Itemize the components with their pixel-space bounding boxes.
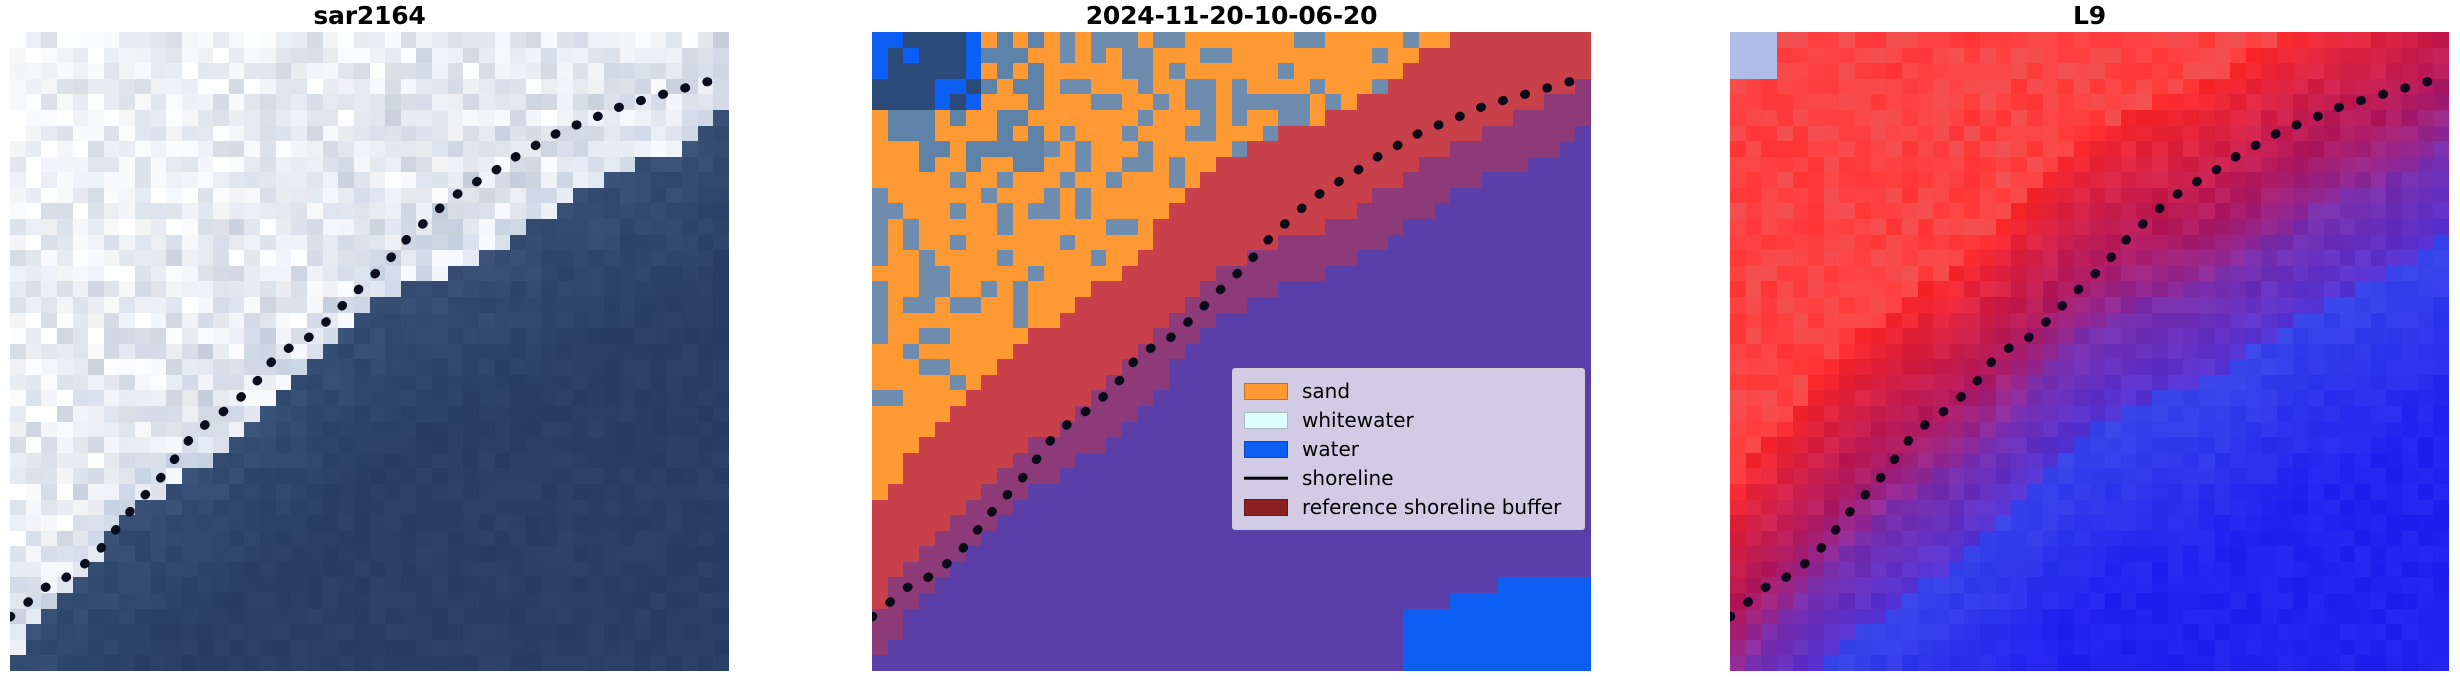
classification-raster <box>872 32 1591 671</box>
panel-title-l9: L9 <box>1730 2 2449 30</box>
legend-item-water[interactable]: water <box>1244 436 1573 462</box>
legend-swatch-water <box>1244 441 1288 458</box>
panel-l9-image[interactable] <box>1730 32 2449 671</box>
legend-label-sand: sand <box>1302 381 1350 401</box>
legend-item-sand[interactable]: sand <box>1244 378 1573 404</box>
panel-title-classification: 2024-11-20-10-06-20 <box>872 2 1591 30</box>
legend-item-whitewater[interactable]: whitewater <box>1244 407 1573 433</box>
legend-item-shoreline[interactable]: shoreline <box>1244 465 1573 491</box>
legend-label-shoreline: shoreline <box>1302 468 1394 488</box>
legend-swatch-shoreline <box>1244 470 1288 487</box>
legend-swatch-sand <box>1244 383 1288 400</box>
legend-item-reference-buffer[interactable]: reference shoreline buffer <box>1244 494 1573 520</box>
sar-raster <box>10 32 729 671</box>
legend-swatch-reference-buffer <box>1244 499 1288 516</box>
legend-label-reference-buffer: reference shoreline buffer <box>1302 497 1561 517</box>
panel-title-sar: sar2164 <box>10 2 729 30</box>
figure-canvas: sar2164 2024-11-20-10-06-20 L9 sand w <box>0 0 2460 687</box>
legend-box[interactable]: sand whitewater water shoreline referenc… <box>1232 368 1585 530</box>
legend-label-whitewater: whitewater <box>1302 410 1414 430</box>
l9-raster <box>1730 32 2449 671</box>
panel-sar-image[interactable] <box>10 32 729 671</box>
panel-classification-image[interactable]: sand whitewater water shoreline referenc… <box>872 32 1591 671</box>
legend-swatch-whitewater <box>1244 412 1288 429</box>
legend-label-water: water <box>1302 439 1359 459</box>
